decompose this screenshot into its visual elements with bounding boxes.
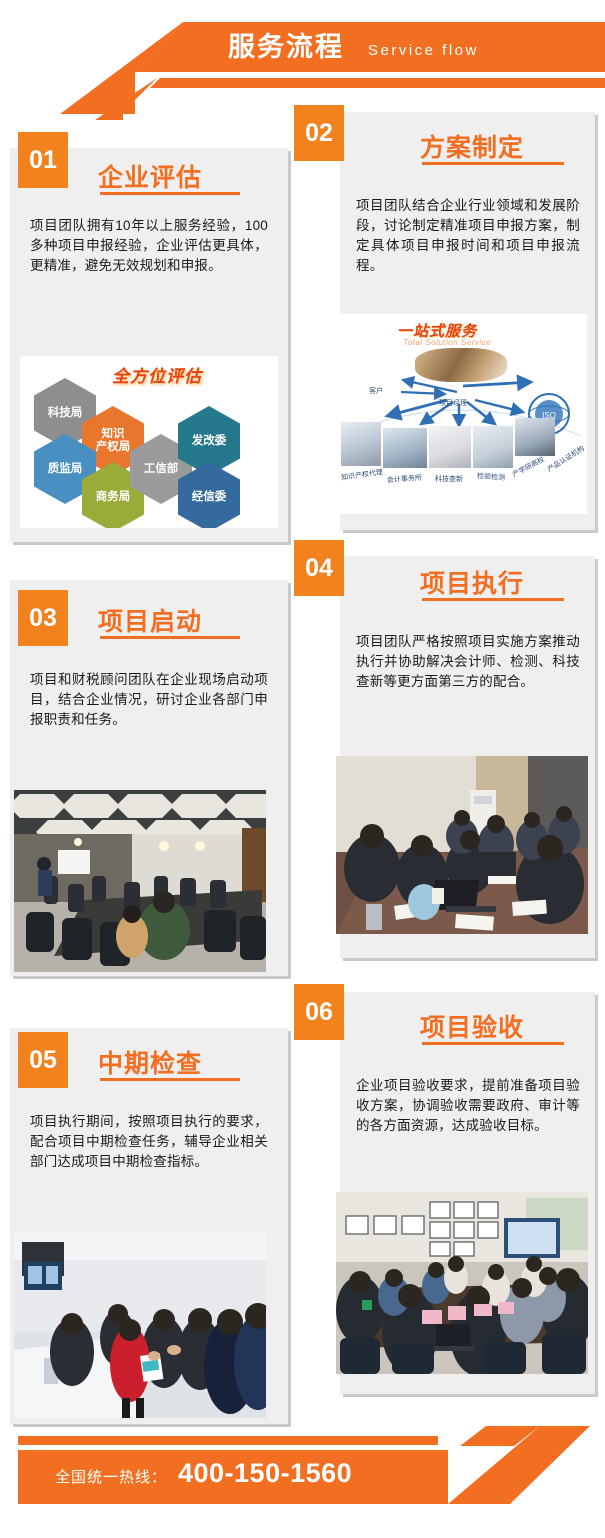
card-title: 方案制定 <box>420 128 524 164</box>
process-card-06[interactable]: 06 项目验收 企业项目验收要求，提前准备项目验收方案，协调验收需要政府、审计等… <box>340 992 595 1394</box>
card-number-badge: 03 <box>18 590 68 646</box>
service-label-testing: 检验检测 <box>477 471 506 483</box>
card-body-text: 项目和财税顾问团队在企业现场启动项目，结合企业情况，研讨企业各部门申报职责和任务… <box>30 670 268 730</box>
card-title: 项目验收 <box>420 1008 524 1044</box>
footer-stripe <box>18 1436 438 1445</box>
title-underline <box>100 192 240 195</box>
hexagon-diagram-title: 全方位评估 <box>112 362 202 387</box>
title-underline <box>422 162 564 165</box>
card-number-badge: 01 <box>18 132 68 188</box>
card-body-text: 项目执行期间，按照项目执行的要求，配合项目中期检查任务，辅导企业相关部门达成项目… <box>30 1112 268 1172</box>
service-tile-accounting <box>383 428 427 468</box>
card-title: 项目执行 <box>420 564 524 600</box>
hotline-label: 全国统一热线： <box>55 1466 167 1487</box>
title-underline <box>422 598 564 601</box>
process-card-02[interactable]: 02 方案制定 项目团队结合企业行业领域和发展阶段，讨论制定精准项目申报方案，制… <box>340 112 595 530</box>
card-body-text: 企业项目验收要求，提前准备项目验收方案，协调验收需要政府、审计等的各方面资源，达… <box>356 1076 580 1136</box>
card-number-badge: 05 <box>18 1032 68 1088</box>
title-underline <box>100 636 240 639</box>
service-tile-testing <box>473 426 513 468</box>
card-title: 企业评估 <box>98 158 202 194</box>
card-number-badge: 02 <box>294 105 344 161</box>
title-underline <box>100 1078 240 1081</box>
service-diagram: 一站式服务 Total Solution Service ISO <box>335 314 587 514</box>
card-body-text: 项目团队拥有10年以上服务经验，100多种项目申报经验，企业评估更具体，更精准，… <box>30 216 268 276</box>
title-underline <box>422 1042 564 1045</box>
service-tile-ip <box>341 422 381 466</box>
card-title: 中期检查 <box>98 1044 202 1080</box>
service-node-manager: 项目经理 <box>439 398 467 408</box>
card-photo <box>14 1232 266 1418</box>
card-photo <box>336 1192 588 1374</box>
header-stripe <box>150 78 605 88</box>
photo-illustration <box>14 1232 266 1418</box>
process-card-03[interactable]: 03 项目启动 项目和财税顾问团队在企业现场启动项目，结合企业情况，研讨企业各部… <box>10 580 288 976</box>
process-card-04[interactable]: 04 项目执行 项目团队严格按照项目实施方案推动执行并协助解决会计师、检测、科技… <box>340 556 595 958</box>
service-tile-search <box>429 426 471 468</box>
page-title: 服务流程 <box>228 30 344 64</box>
card-body-text: 项目团队结合企业行业领域和发展阶段，讨论制定精准项目申报方案，制定具体项目申报时… <box>356 196 580 276</box>
photo-illustration <box>14 790 266 972</box>
photo-illustration <box>336 1192 588 1374</box>
service-tile-university <box>515 418 555 456</box>
card-number-badge: 06 <box>294 984 344 1040</box>
card-photo <box>14 790 266 972</box>
service-node-customer: 客户 <box>369 386 383 396</box>
page-header: 服务流程 Service flow <box>0 0 605 112</box>
service-diagram-arrows: ISO <box>335 314 587 514</box>
hotline-number[interactable]: 400-150-1560 <box>178 1458 352 1489</box>
card-photo <box>336 756 588 934</box>
page-footer: 全国统一热线： 400-150-1560 <box>0 1426 605 1538</box>
hexagon-diagram: 全方位评估 科技局 知识 产权局 质监局 商务局 工信部 发改委 经信委 <box>20 356 278 528</box>
process-card-05[interactable]: 05 中期检查 项目执行期间，按照项目执行的要求，配合项目中期检查任务，辅导企业… <box>10 1028 288 1424</box>
card-number-badge: 04 <box>294 540 344 596</box>
process-card-01[interactable]: 01 企业评估 项目团队拥有10年以上服务经验，100多种项目申报经验，企业评估… <box>10 148 288 542</box>
service-label-search: 科技查新 <box>435 474 463 484</box>
card-body-text: 项目团队严格按照项目实施方案推动执行并协助解决会计师、检测、科技查新等更方面第三… <box>356 632 580 692</box>
photo-illustration <box>336 756 588 934</box>
card-title: 项目启动 <box>98 602 202 638</box>
page-subtitle: Service flow <box>368 39 479 63</box>
service-team-photo <box>415 348 507 382</box>
